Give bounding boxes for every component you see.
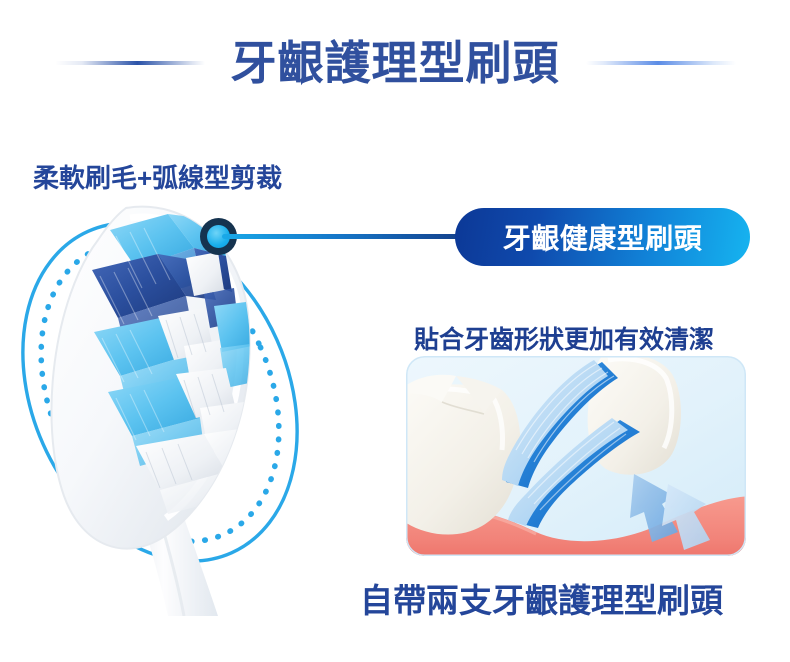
- callout-badge-label: 牙齦健康型刷頭: [503, 217, 703, 257]
- title-row: 牙齦護理型刷頭: [0, 28, 790, 98]
- title-decoration-left: [55, 61, 205, 65]
- left-feature-caption: 柔軟刷毛+弧線型剪裁: [33, 158, 282, 195]
- right-feature-caption: 貼合牙齒形狀更加有效清潔: [414, 320, 714, 356]
- page-title: 牙齦護理型刷頭: [231, 40, 560, 86]
- callout-badge: 牙齦健康型刷頭: [455, 208, 750, 266]
- teeth-cleaning-panel: [406, 356, 746, 556]
- callout-connector-line: [222, 234, 474, 239]
- toothbrush-head-illustration: [8, 196, 398, 616]
- footer-caption: 自帶兩支牙齦護理型刷頭: [360, 574, 723, 622]
- title-decoration-right: [586, 61, 736, 65]
- product-feature-slide: 牙齦護理型刷頭 柔軟刷毛+弧線型剪裁: [0, 0, 790, 662]
